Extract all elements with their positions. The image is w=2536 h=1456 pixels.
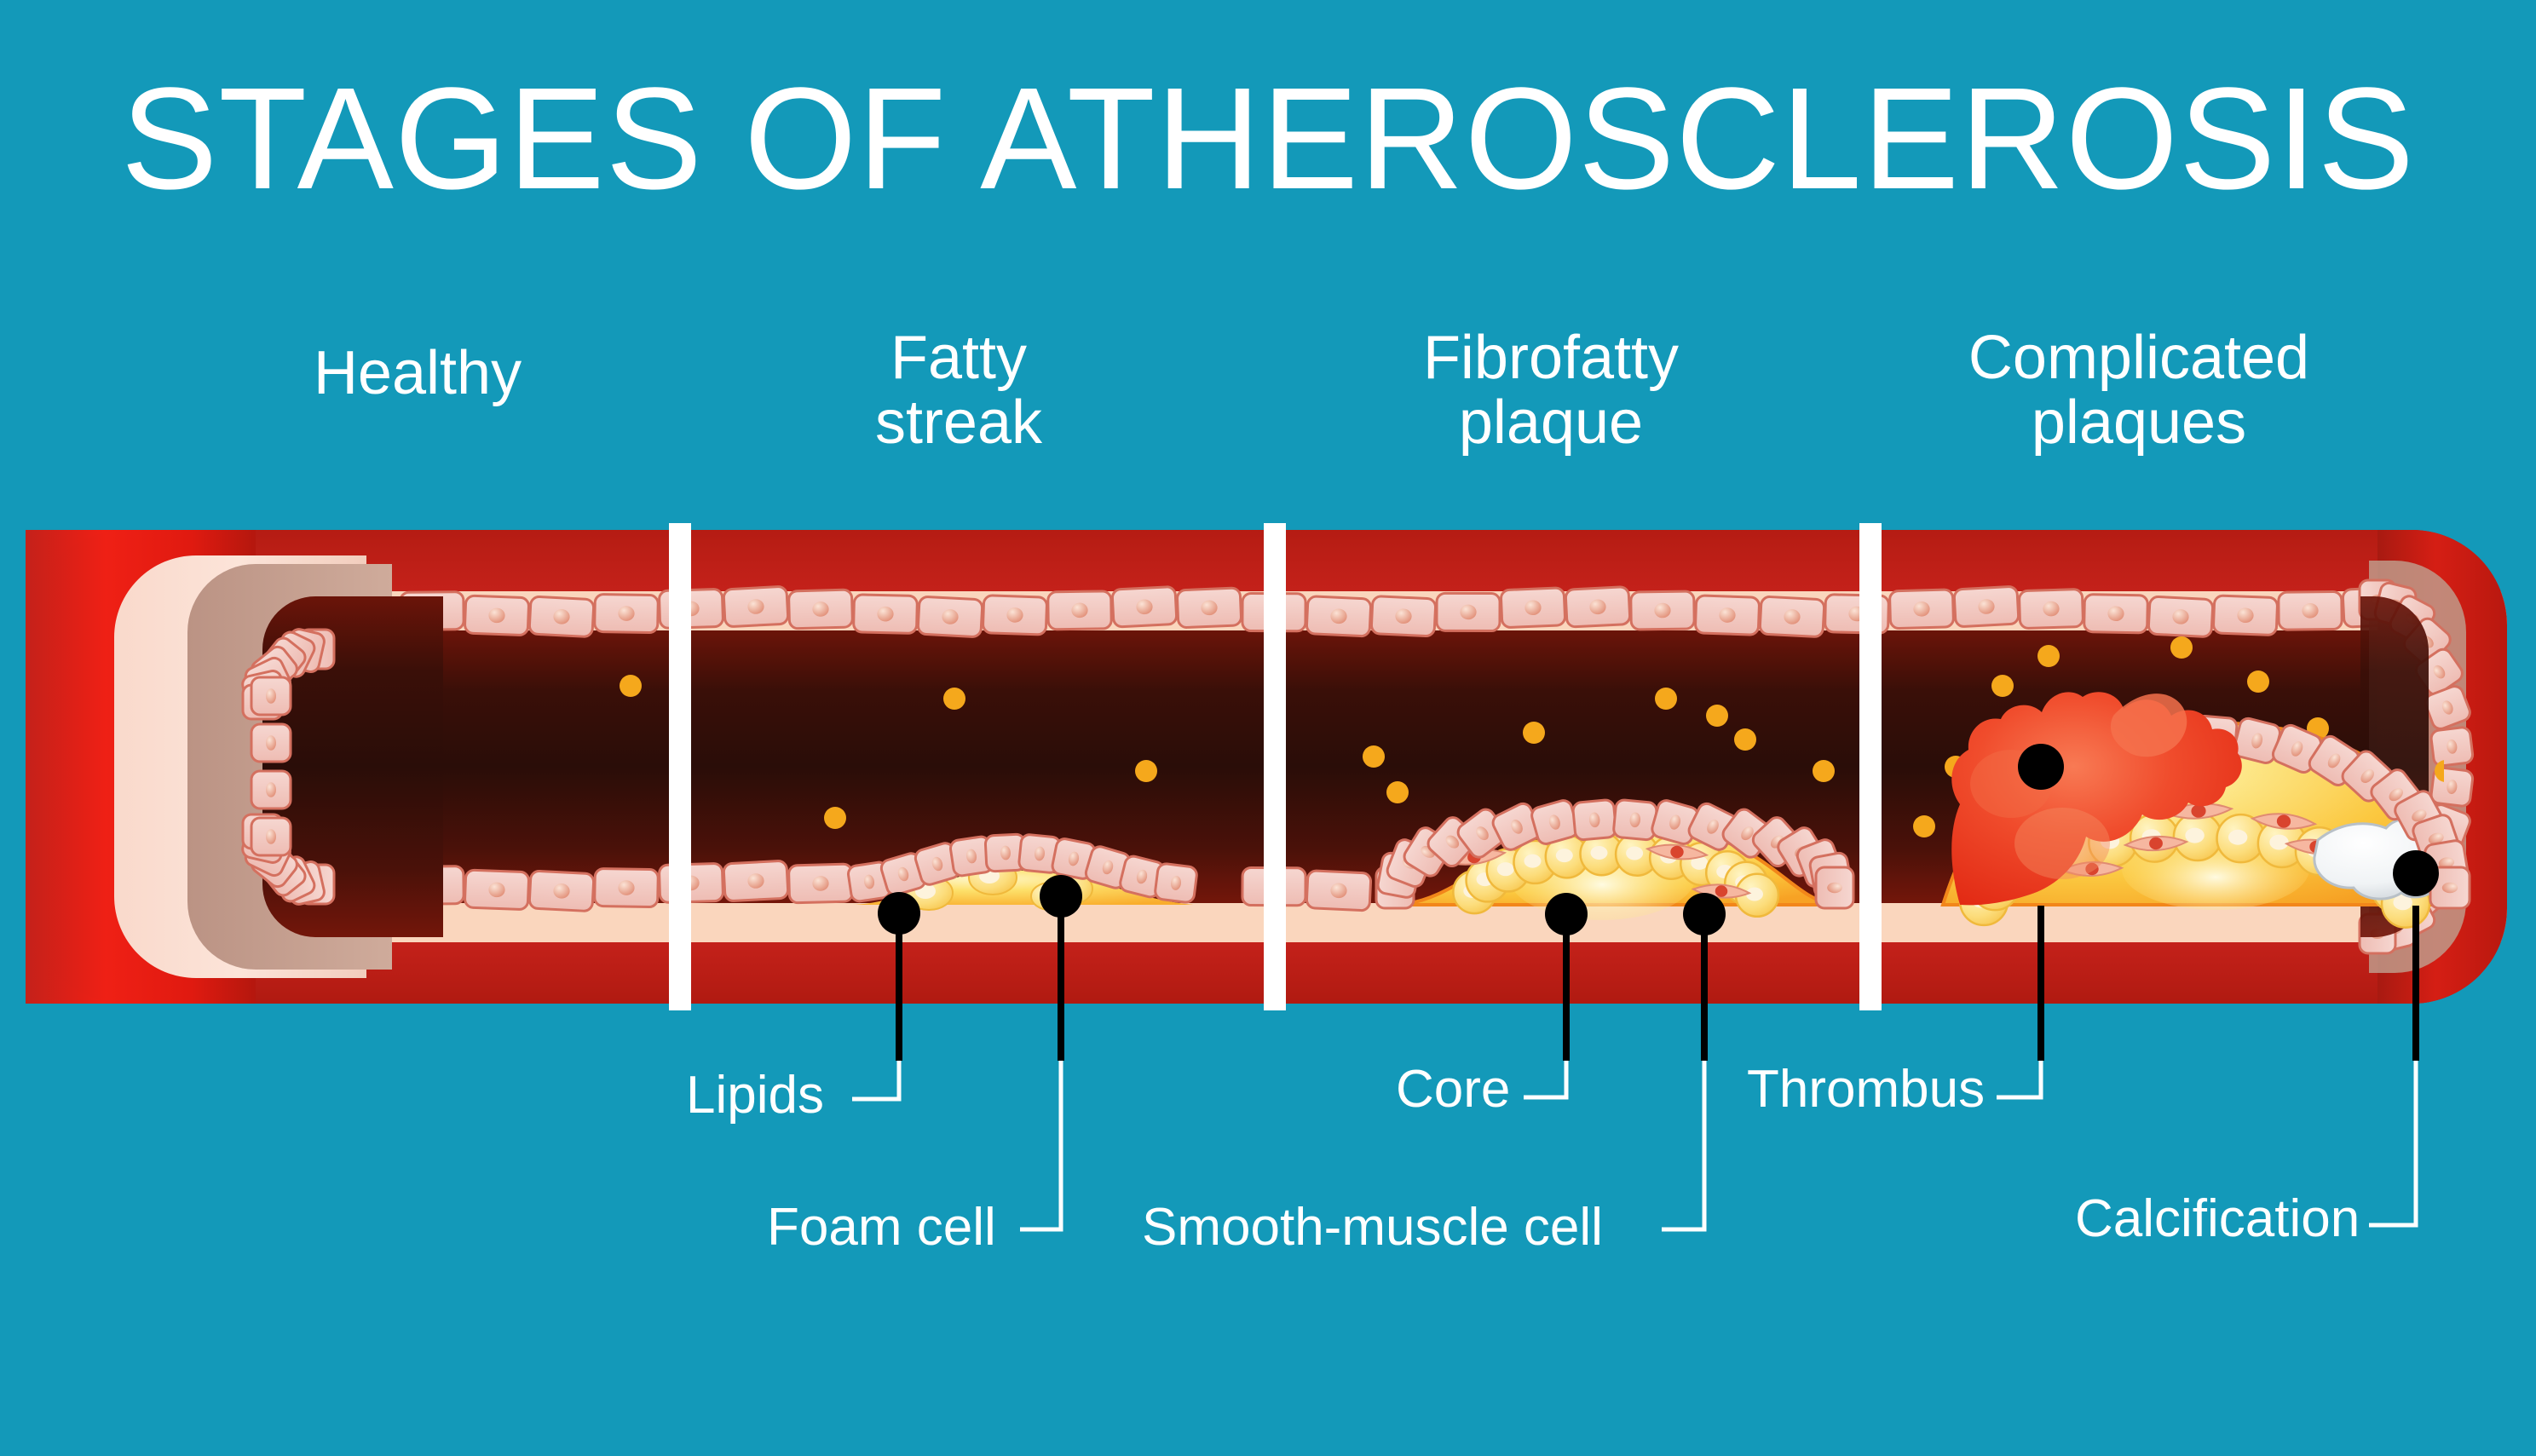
leader-lipids <box>852 1061 899 1099</box>
vessel-left-cut-end <box>26 530 443 1004</box>
callout-label-foam-cell: Foam cell <box>767 1201 996 1254</box>
stage-label-healthy: Healthy <box>192 341 643 406</box>
page-title: STAGES OF ATHEROSCLEROSIS <box>0 66 2536 211</box>
pointer-dot-thrombus <box>2018 744 2064 790</box>
diagram-canvas: STAGES OF ATHEROSCLEROSIS Healthy Fatty … <box>0 0 2536 1456</box>
stage-label-fibrofatty: Fibrofatty plaque <box>1312 325 1790 456</box>
callout-label-calcification: Calcification <box>2075 1193 2360 1246</box>
pointer-dot-lipids <box>878 892 920 935</box>
pointer-dot-calcif <box>2393 850 2439 896</box>
callout-label-lipids: Lipids <box>686 1069 824 1122</box>
pointer-dot-smc <box>1683 893 1726 935</box>
leader-thrombus <box>1997 1061 2041 1097</box>
pointer-dot-core <box>1545 893 1588 935</box>
leader-smc <box>1662 1061 1704 1229</box>
callout-label-thrombus: Thrombus <box>1747 1063 1985 1116</box>
callout-label-core: Core <box>1396 1063 1510 1116</box>
stage-label-complicated: Complicated plaques <box>1858 325 2420 456</box>
leader-calcif <box>2369 1061 2416 1225</box>
callout-label-smooth-muscle-cell: Smooth-muscle cell <box>1142 1201 1603 1254</box>
leader-core <box>1524 1061 1566 1097</box>
pointer-dot-foam-cell <box>1040 875 1082 918</box>
stage-label-fatty-streak: Fatty streak <box>733 325 1184 456</box>
leader-foam-cell <box>1020 1061 1061 1229</box>
